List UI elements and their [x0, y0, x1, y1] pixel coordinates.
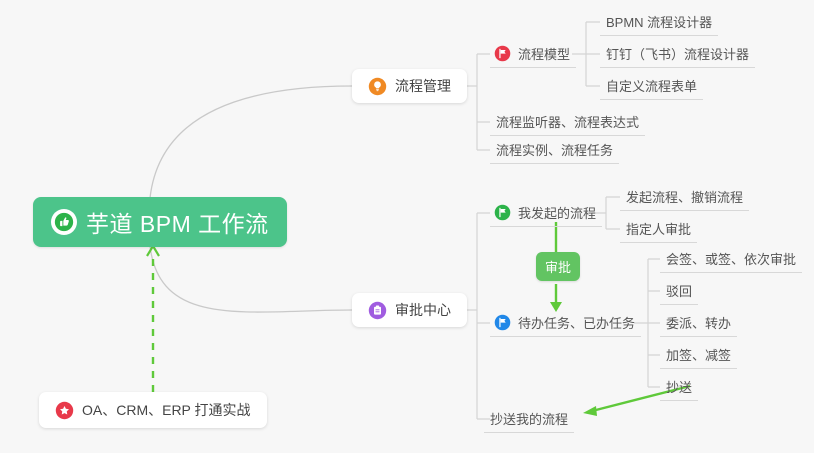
node-label: 指定人审批: [626, 219, 691, 238]
node-label: 自定义流程表单: [606, 76, 697, 95]
link-model-children: [572, 22, 600, 86]
node-label: 抄送我的流程: [490, 409, 568, 428]
flag-icon: [494, 204, 511, 221]
branch-label: 流程管理: [395, 76, 451, 96]
node-delegate-transfer[interactable]: 委派、转办: [660, 309, 737, 337]
node-instance-task[interactable]: 流程实例、流程任务: [490, 136, 619, 164]
node-process-model[interactable]: 流程模型: [490, 40, 576, 68]
link-pm-children: [463, 54, 490, 150]
footnote-label: OA、CRM、ERP 打通实战: [82, 400, 251, 420]
mindmap-canvas: 芋道 BPM 工作流 流程管理 流程模型 BPMN 流程设计器 钉钉（飞书）流程: [0, 0, 814, 453]
node-label: 钉钉（飞书）流程设计器: [606, 44, 749, 63]
node-label: 待办任务、已办任务: [518, 313, 635, 332]
node-bpmn-designer[interactable]: BPMN 流程设计器: [600, 8, 718, 36]
node-label: 加签、减签: [666, 345, 731, 364]
node-label: 驳回: [666, 281, 692, 300]
node-label: 发起流程、撤销流程: [626, 187, 743, 206]
node-label: 委派、转办: [666, 313, 731, 332]
branch-approval-center[interactable]: 审批中心: [352, 293, 467, 327]
approve-badge-label: 审批: [545, 260, 571, 275]
node-label: 流程监听器、流程表达式: [496, 112, 639, 131]
thumbs-up-icon: [51, 209, 77, 235]
root-node[interactable]: 芋道 BPM 工作流: [33, 197, 287, 247]
flag-icon: [494, 45, 511, 62]
node-label: 我发起的流程: [518, 203, 596, 222]
node-cc[interactable]: 抄送: [660, 373, 698, 401]
approve-badge[interactable]: 审批: [536, 252, 580, 281]
node-label: 会签、或签、依次审批: [666, 249, 796, 268]
node-dingtalk-designer[interactable]: 钉钉（飞书）流程设计器: [600, 40, 755, 68]
node-add-remove-sign[interactable]: 加签、减签: [660, 341, 737, 369]
arrow-cc-head: [583, 406, 597, 416]
clipboard-icon: [368, 301, 387, 320]
node-listener-expression[interactable]: 流程监听器、流程表达式: [490, 108, 645, 136]
branch-label: 审批中心: [395, 300, 451, 320]
link-root-to-process-management: [150, 86, 352, 198]
footnote-node[interactable]: OA、CRM、ERP 打通实战: [39, 392, 267, 428]
node-label: BPMN 流程设计器: [606, 12, 712, 31]
node-cc-to-me-flows[interactable]: 抄送我的流程: [484, 405, 574, 433]
node-my-initiated-flows[interactable]: 我发起的流程: [490, 199, 602, 227]
node-label: 流程实例、流程任务: [496, 140, 613, 159]
node-custom-form[interactable]: 自定义流程表单: [600, 72, 703, 100]
flag-icon: [494, 314, 511, 331]
lightbulb-icon: [368, 77, 387, 96]
node-start-cancel-flow[interactable]: 发起流程、撤销流程: [620, 183, 749, 211]
node-reject[interactable]: 驳回: [660, 277, 698, 305]
node-assigned-approver[interactable]: 指定人审批: [620, 215, 697, 243]
branch-process-management[interactable]: 流程管理: [352, 69, 467, 103]
root-label: 芋道 BPM 工作流: [86, 205, 269, 239]
link-root-to-approval-center: [150, 246, 352, 312]
star-icon: [55, 401, 74, 420]
node-countersign[interactable]: 会签、或签、依次审批: [660, 245, 802, 273]
node-todo-done-tasks[interactable]: 待办任务、已办任务: [490, 309, 641, 337]
arrow-footnote-head: [147, 246, 159, 256]
link-ac-children: [463, 213, 490, 419]
node-label: 抄送: [666, 377, 692, 396]
node-label: 流程模型: [518, 44, 570, 63]
